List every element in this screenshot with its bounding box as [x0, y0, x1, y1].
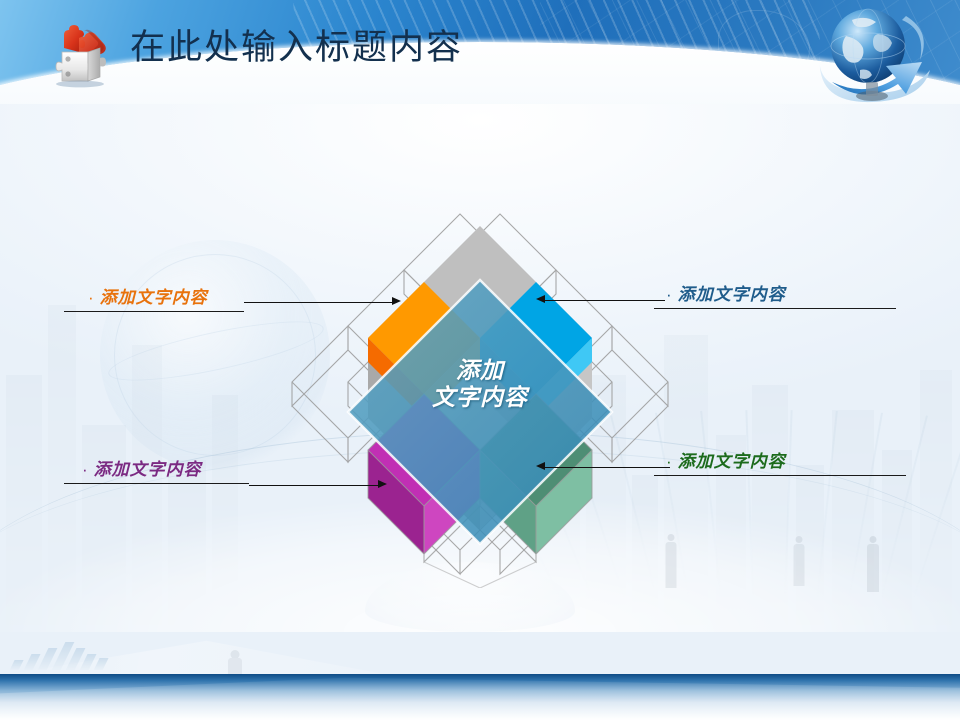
callout-bottom-right[interactable]: · 添加文字内容 [660, 447, 912, 476]
arrow-line-tl [244, 302, 394, 303]
callout-bullet-tl: · [88, 289, 94, 306]
callout-rule-br [654, 475, 906, 476]
page-title: 在此处输入标题内容 [130, 26, 463, 70]
callout-text-bl: 添加文字内容 [94, 455, 202, 480]
callout-top-left[interactable]: · 添加文字内容 [64, 283, 244, 312]
callout-rule-tl [64, 311, 244, 312]
arrow-head-br [536, 462, 545, 470]
background-person-c [862, 536, 884, 594]
arrow-line-br [545, 467, 670, 468]
callout-bullet-tr: · [666, 286, 672, 303]
callout-text-tl: 添加文字内容 [100, 283, 208, 308]
isometric-cube-diagram [236, 168, 724, 588]
callout-text-br: 添加文字内容 [678, 447, 786, 472]
callout-text-tr: 添加文字内容 [678, 280, 786, 305]
arrow-head-tr [536, 295, 545, 303]
background-person-b [788, 536, 810, 588]
arrow-line-tr [545, 300, 665, 301]
arrow-head-bl [378, 480, 387, 488]
callout-rule-bl [64, 483, 249, 484]
background-keyboard-motif [10, 636, 177, 670]
callout-top-right[interactable]: · 添加文字内容 [660, 280, 902, 309]
arrow-head-tl [392, 297, 401, 305]
callout-bottom-left[interactable]: · 添加文字内容 [64, 455, 249, 484]
globe-arrow-icon [802, 0, 952, 120]
arrow-line-bl [249, 485, 380, 486]
callout-rule-tr [654, 308, 896, 309]
callout-bullet-bl: · [82, 461, 88, 478]
footer-band [0, 674, 960, 720]
slide-canvas: 在此处输入标题内容 [0, 0, 960, 720]
puzzle-pieces-icon [48, 22, 120, 88]
